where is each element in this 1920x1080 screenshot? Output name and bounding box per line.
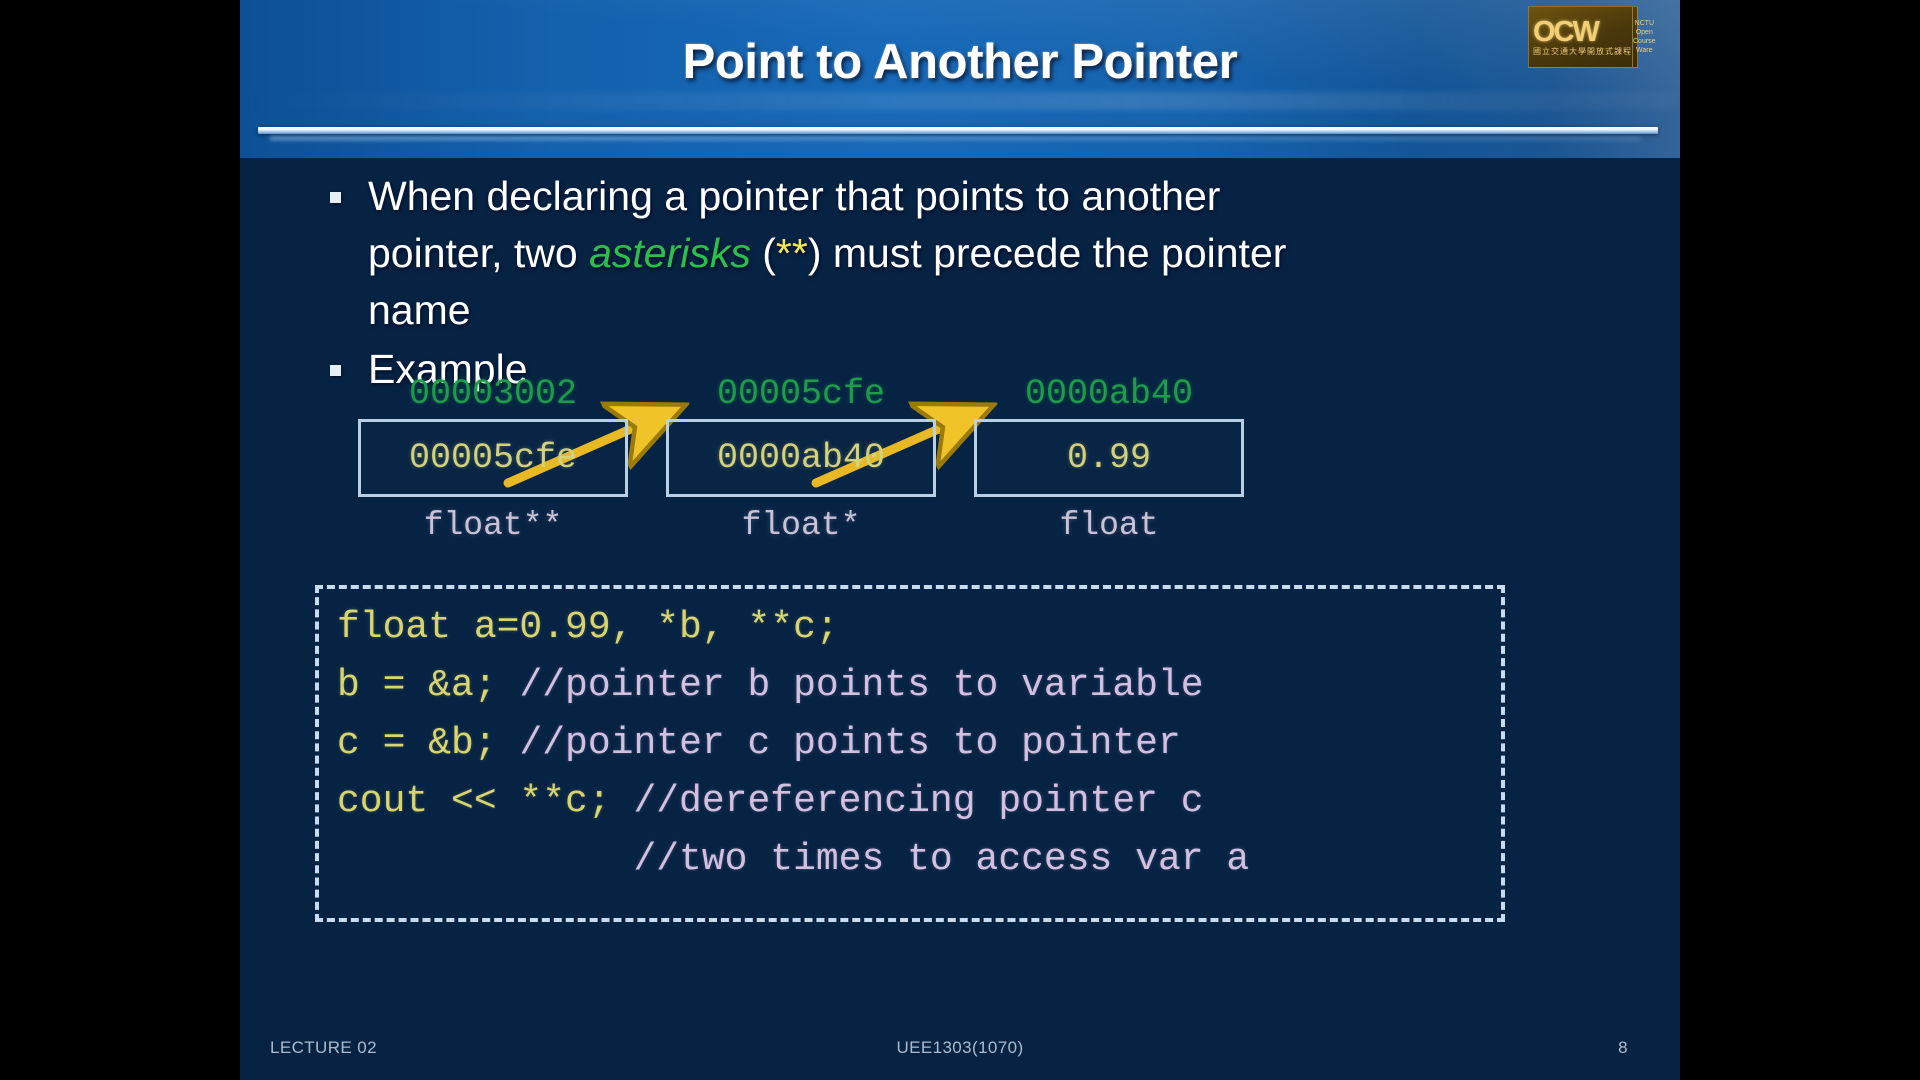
- ocw-side-line-4: Ware: [1636, 46, 1652, 55]
- ocw-chinese-subtitle: 國立交通大學開放式課程: [1533, 47, 1632, 57]
- memory-address-label: 0000ab40: [974, 373, 1244, 419]
- page-title: Point to Another Pointer: [240, 34, 1680, 90]
- slide-body: When declaring a pointer that points to …: [240, 158, 1680, 1080]
- bullet-item: When declaring a pointer that points to …: [326, 168, 1336, 339]
- bullet-text-run: **: [776, 230, 808, 276]
- memory-cell-2: 0000ab400.99float: [974, 373, 1244, 544]
- slide-footer: LECTURE 02 UEE1303(1070) 8: [240, 1034, 1680, 1064]
- ocw-side-line-2: Open: [1636, 28, 1653, 37]
- code-line: b = &a; //pointer b points to variable: [337, 657, 1483, 715]
- ocw-side-line-3: Course: [1633, 37, 1656, 46]
- code-comment: //dereferencing pointer c: [633, 780, 1203, 823]
- memory-cell-0: 0000300200005cfefloat**: [358, 373, 628, 544]
- bullet-text-run: asterisks: [589, 230, 751, 276]
- ocw-side-line-1: NCTU: [1635, 19, 1654, 28]
- ocw-logo-main: OCW 國立交通大學開放式課程: [1529, 7, 1632, 67]
- code-example-block: float a=0.99, *b, **c;b = &a; //pointer …: [315, 585, 1505, 922]
- ocw-logo-sidebar: NCTU Open Course Ware: [1632, 7, 1656, 67]
- ocw-wordmark: OCW: [1533, 17, 1632, 47]
- memory-type-label: float**: [358, 507, 628, 544]
- memory-value-box: 0.99: [974, 419, 1244, 497]
- code-comment: //two times to access var a: [633, 838, 1249, 881]
- code-statement: b = &a;: [337, 664, 519, 707]
- code-statement: c = &b;: [337, 722, 519, 765]
- memory-type-label: float*: [666, 507, 936, 544]
- memory-diagram: 0000300200005cfefloat**00005cfe0000ab40f…: [358, 373, 1388, 573]
- presentation-slide: Point to Another Pointer OCW 國立交通大學開放式課程…: [240, 0, 1680, 1080]
- title-underline-rule: [258, 127, 1658, 134]
- code-comment: //pointer c points to pointer: [519, 722, 1180, 765]
- memory-cell-1: 00005cfe0000ab40float*: [666, 373, 936, 544]
- memory-address-label: 00003002: [358, 373, 628, 419]
- memory-type-label: float: [974, 507, 1244, 544]
- code-statement: [337, 838, 633, 881]
- video-letterbox-frame: Point to Another Pointer OCW 國立交通大學開放式課程…: [0, 0, 1920, 1080]
- code-line: float a=0.99, *b, **c;: [337, 599, 1483, 657]
- code-statement: cout << **c;: [337, 780, 633, 823]
- code-line: c = &b; //pointer c points to pointer: [337, 715, 1483, 773]
- ocw-logo: OCW 國立交通大學開放式課程 NCTU Open Course Ware: [1528, 6, 1638, 68]
- memory-value-box: 00005cfe: [358, 419, 628, 497]
- code-line: cout << **c; //dereferencing pointer c: [337, 773, 1483, 831]
- code-comment: //pointer b points to variable: [519, 664, 1203, 707]
- code-line: //two times to access var a: [337, 831, 1483, 889]
- memory-value-box: 0000ab40: [666, 419, 936, 497]
- memory-address-label: 00005cfe: [666, 373, 936, 419]
- title-rule-shadow: [270, 136, 1640, 140]
- bullet-text-run: (: [751, 230, 776, 276]
- footer-page-number: 8: [1618, 1038, 1628, 1058]
- bullet-list: When declaring a pointer that points to …: [326, 168, 1336, 400]
- bullet-square-icon: [330, 192, 341, 203]
- code-statement: float a=0.99, *b, **c;: [337, 606, 839, 649]
- footer-course-code: UEE1303(1070): [240, 1038, 1680, 1058]
- bullet-square-icon: [330, 365, 341, 376]
- slide-header-band: Point to Another Pointer OCW 國立交通大學開放式課程…: [240, 0, 1680, 158]
